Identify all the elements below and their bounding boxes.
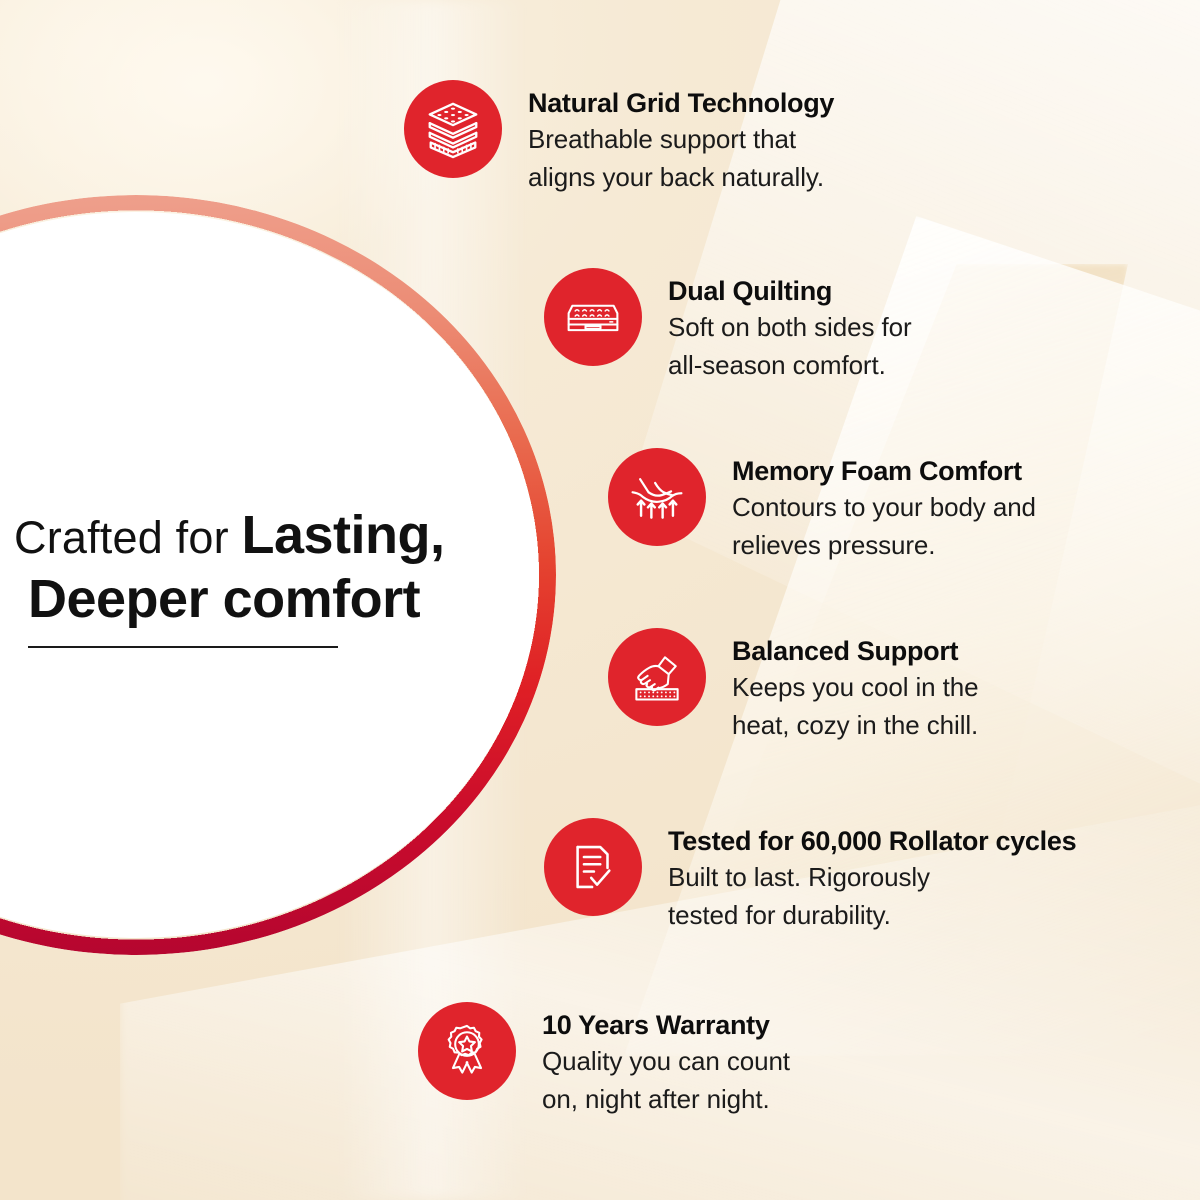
feature-item[interactable]: Memory Foam Comfort Contours to your bod… <box>608 448 1036 564</box>
feature-description: Soft on both sides for all-season comfor… <box>668 308 912 384</box>
feature-copy: Tested for 60,000 Rollator cycles Built … <box>642 818 1076 934</box>
feature-copy: Balanced Support Keeps you cool in the h… <box>706 628 979 744</box>
award-ribbon-star-icon <box>437 1021 497 1081</box>
feature-icon-badge <box>544 818 642 916</box>
feature-title: 10 Years Warranty <box>542 1008 790 1042</box>
feature-icon-badge <box>608 448 706 546</box>
headline-light-text: Crafted for <box>14 512 242 563</box>
feature-icon-badge <box>544 268 642 366</box>
headline-block: Crafted for Lasting, Deeper comfort <box>14 505 514 648</box>
feature-title: Balanced Support <box>732 634 979 668</box>
headline-line-1: Crafted for Lasting, <box>14 505 514 568</box>
feature-copy: Natural Grid Technology Breathable suppo… <box>502 80 834 196</box>
feature-description: Built to last. Rigorously tested for dur… <box>668 858 1076 934</box>
feature-copy: Dual Quilting Soft on both sides for all… <box>642 268 912 384</box>
feature-description: Contours to your body and relieves press… <box>732 488 1036 564</box>
headline-bold-text: Lasting, <box>242 505 445 565</box>
feature-description: Breathable support that aligns your back… <box>528 120 834 196</box>
body-contour-arrows-icon <box>627 467 687 527</box>
hand-press-mattress-icon <box>627 647 687 707</box>
feature-description: Keeps you cool in the heat, cozy in the … <box>732 668 979 744</box>
feature-item[interactable]: Dual Quilting Soft on both sides for all… <box>544 268 912 384</box>
feature-item[interactable]: Tested for 60,000 Rollator cycles Built … <box>544 818 1076 934</box>
feature-title: Natural Grid Technology <box>528 86 834 120</box>
headline-line-2: Deeper comfort <box>14 568 514 630</box>
feature-title: Tested for 60,000 Rollator cycles <box>668 824 1076 858</box>
feature-title: Dual Quilting <box>668 274 912 308</box>
feature-copy: Memory Foam Comfort Contours to your bod… <box>706 448 1036 564</box>
feature-item[interactable]: 10 Years Warranty Quality you can count … <box>418 1002 790 1118</box>
feature-item[interactable]: Balanced Support Keeps you cool in the h… <box>608 628 979 744</box>
layered-grid-icon <box>422 98 484 160</box>
feature-icon-badge <box>418 1002 516 1100</box>
feature-icon-badge <box>404 80 502 178</box>
feature-description: Quality you can count on, night after ni… <box>542 1042 790 1118</box>
feature-item[interactable]: Natural Grid Technology Breathable suppo… <box>404 80 834 196</box>
feature-title: Memory Foam Comfort <box>732 454 1036 488</box>
feature-copy: 10 Years Warranty Quality you can count … <box>516 1002 790 1118</box>
headline-underline-rule <box>28 646 338 648</box>
document-check-icon <box>564 838 622 896</box>
infographic-poster: Crafted for Lasting, Deeper comfort <box>0 0 1200 1200</box>
quilted-mattress-icon <box>563 287 623 347</box>
feature-icon-badge <box>608 628 706 726</box>
